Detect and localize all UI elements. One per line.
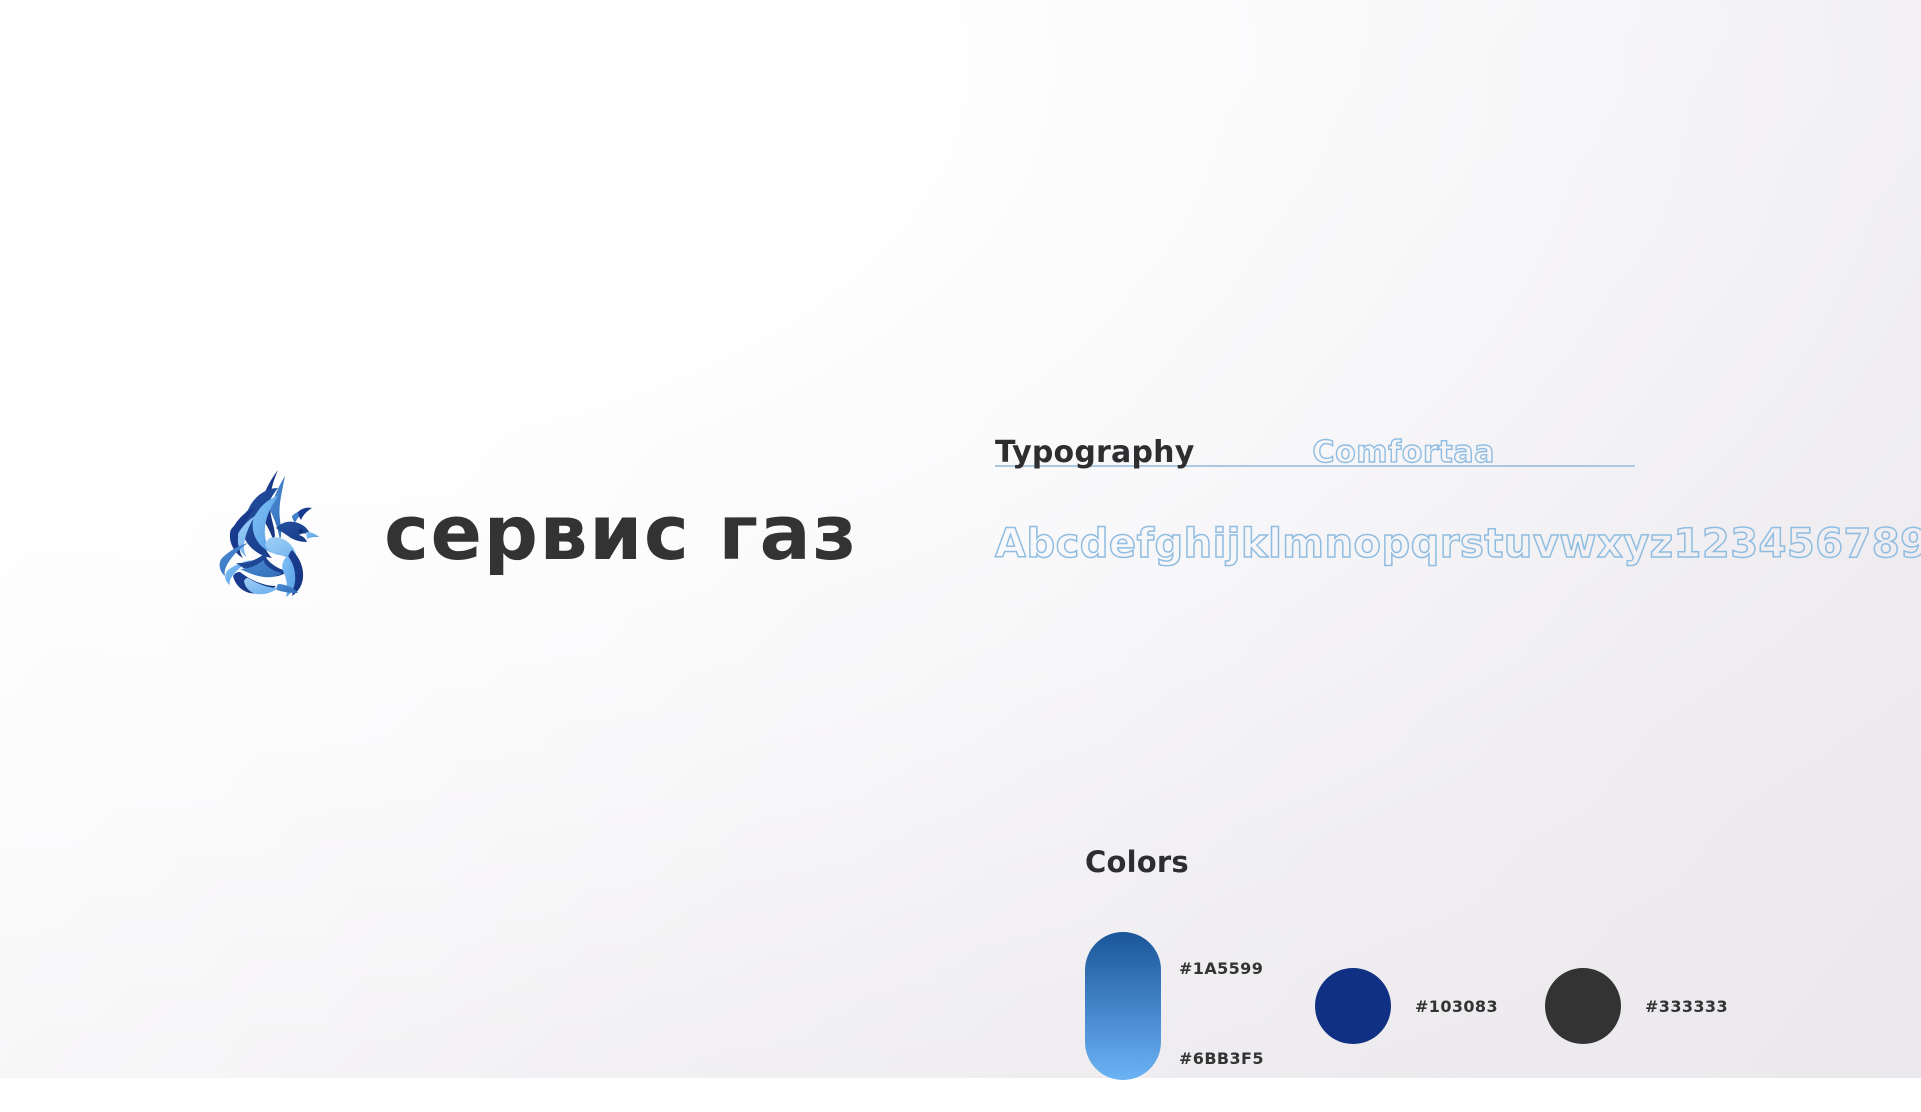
navy-circle-swatch [1315, 968, 1391, 1044]
typography-section: Typography Comfortaa Abcdefghijklmnopqrs… [995, 420, 1635, 566]
typography-header: Typography Comfortaa [995, 420, 1635, 476]
charcoal-circle-swatch [1545, 968, 1621, 1044]
typography-header-labels: Typography Comfortaa [995, 420, 1495, 468]
typography-heading: Typography [995, 438, 1194, 468]
phoenix-firebird-mark-icon [218, 466, 322, 600]
navy-hex-label: #103083 [1415, 997, 1498, 1016]
typography-specimen: Abcdefghijklmnopqrstuvwxyz1234567890 [995, 522, 1635, 566]
colors-section: Colors #1A5599 #6BB3F5 #103083 [1085, 848, 1845, 1112]
color-swatch-row: #1A5599 #6BB3F5 #103083 #333333 [1085, 932, 1845, 1112]
swatch-charcoal: #333333 [1545, 968, 1728, 1044]
gradient-top-hex-label: #1A5599 [1179, 959, 1263, 978]
gradient-bottom-hex-label: #6BB3F5 [1179, 1049, 1264, 1068]
brand-style-guide-board: сервис газ Typography Comfortaa Abcdefgh… [0, 0, 1921, 1078]
gradient-pill-swatch [1085, 932, 1161, 1080]
charcoal-hex-label: #333333 [1645, 997, 1728, 1016]
typography-font-name: Comfortaa [1312, 438, 1495, 468]
swatch-deep-navy: #103083 [1315, 968, 1498, 1044]
wordmark-text: сервис газ [384, 495, 858, 571]
colors-heading: Colors [1085, 848, 1845, 877]
